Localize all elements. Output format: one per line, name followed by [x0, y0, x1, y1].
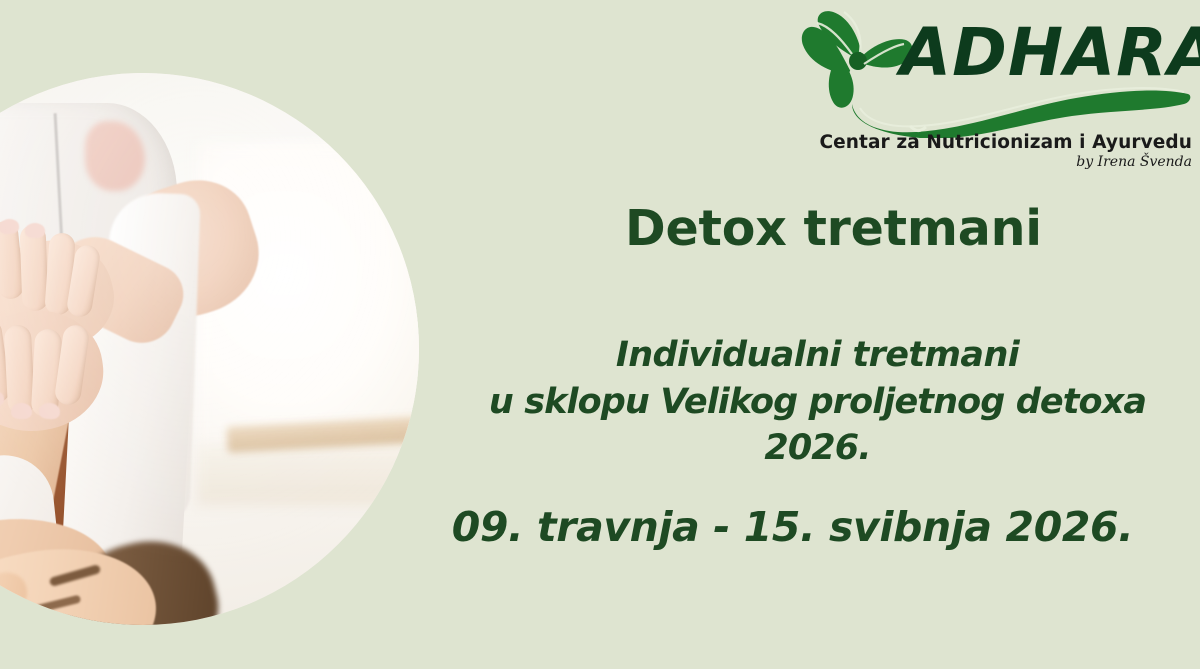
logo-byline: by Irena Švenda — [800, 154, 1192, 170]
page-title: Detox tretmani — [625, 200, 1042, 257]
detox-treatment-promo-poster: ADHARA Centar za Nutricionizam i Ayurved… — [0, 0, 1200, 669]
date-range: 09. travnja - 15. svibnja 2026. — [440, 503, 1145, 551]
subtitle-line-2: u sklopu Velikog proljetnog detoxa 2026. — [440, 379, 1195, 472]
adhara-wordmark: ADHARA — [900, 20, 1200, 86]
treatment-photo-illustration — [0, 73, 419, 625]
treatment-photo — [0, 73, 419, 625]
photo-shelf-base — [197, 445, 419, 505]
adhara-logo[interactable]: ADHARA Centar za Nutricionizam i Ayurved… — [800, 4, 1192, 172]
photo-fingernail — [38, 402, 60, 419]
adhara-swoosh-icon — [850, 82, 1192, 138]
subtitle-block: Individualni tretmani u sklopu Velikog p… — [440, 332, 1195, 472]
subtitle-line-1: Individualni tretmani — [440, 332, 1195, 379]
photo-fingernail — [11, 403, 32, 419]
photo-fingernail — [25, 223, 45, 238]
logo-tagline: Centar za Nutricionizam i Ayurvedu — [800, 132, 1192, 153]
